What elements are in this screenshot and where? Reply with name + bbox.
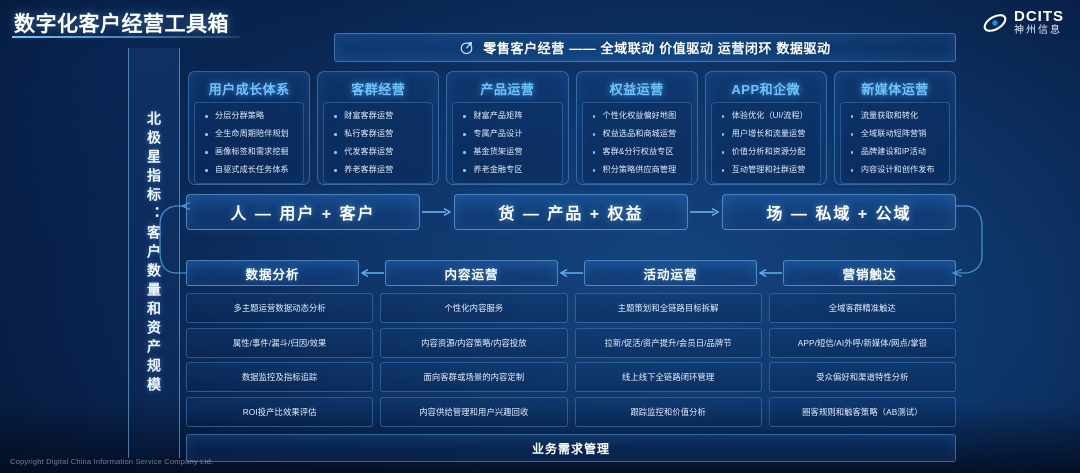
card-item-list: 流量获取和转化 全域联动短阵营销 品牌建设和IP活动 内容设计和创作发布: [847, 107, 945, 179]
operation-cell[interactable]: 属性/事件/漏斗/归因/效果: [186, 328, 373, 358]
card-list-item: 全域联动短阵营销: [847, 125, 945, 143]
card-title: 权益运营: [582, 79, 692, 98]
operation-cell[interactable]: 受众偏好和渠道特性分析: [769, 362, 956, 392]
core-flow-bar-label: 货 — 产品 + 权益: [498, 200, 643, 224]
business-requirement-bar[interactable]: 业务需求管理: [186, 434, 956, 462]
brand-name-cn: 神州信息: [1014, 26, 1064, 36]
card-list-item: 体验优化（UI/流程）: [718, 107, 816, 125]
card-item-list: 体验优化（UI/流程） 用户增长和流量运营 价值分析和资源分配 互动管理和社群运…: [718, 107, 816, 179]
operation-cell[interactable]: ROI投产比效果评估: [186, 397, 373, 427]
operation-cell[interactable]: 面向客群或场景的内容定制: [380, 362, 567, 392]
card-title: 产品运营: [452, 79, 562, 98]
operation-header-content[interactable]: 内容运营: [385, 260, 558, 286]
operation-header-label: 数据分析: [245, 264, 299, 283]
card-list-item: 全生命周期陪伴规划: [201, 125, 299, 143]
arrow-right-icon: [688, 206, 722, 218]
operation-cell-label: ROI投产比效果评估: [243, 406, 317, 418]
card-item-list: 财富客群运营 私行客群运营 代发客群运营 养老客群运营: [330, 107, 428, 179]
operation-cell-label: 面向客群或场景的内容定制: [423, 371, 524, 383]
core-flow-bar-field[interactable]: 场 — 私域 + 公域: [722, 194, 956, 230]
arrow-right-icon: [420, 206, 454, 218]
operation-header-label: 活动运营: [643, 264, 697, 283]
operation-header-activity[interactable]: 活动运营: [584, 260, 757, 286]
operation-cell[interactable]: 主题策划和全链路目标拆解: [575, 293, 762, 323]
card-body: 个性化权益偏好地图 权益选品和商城运营 客群&分行权益专区 积分策略供应商管理: [582, 102, 692, 184]
operation-column-marketing: 全域客群精准触达 APP/短信/AI外呼/新媒体/网点/掌银 受众偏好和渠道特性…: [769, 293, 956, 427]
north-star-axis-label: 北极星指标：客户数量和资产规模: [147, 111, 161, 396]
dcits-swirl-icon: [982, 10, 1008, 36]
card-title: 用户成长体系: [194, 79, 304, 98]
operation-cell[interactable]: 个性化内容服务: [380, 293, 567, 323]
card-list-item: 财富产品矩阵: [459, 107, 557, 125]
operation-cell[interactable]: 内容供给管理和用户兴趣回收: [380, 397, 567, 427]
target-arrow-icon: [459, 40, 474, 55]
page-title: 数字化客户经营工具箱: [14, 8, 229, 38]
operation-cell-label: 内容资源/内容策略/内容投放: [421, 337, 527, 349]
card-list-item: 养老客群运营: [330, 161, 428, 179]
arrow-left-icon: [359, 267, 385, 279]
card-body: 财富客群运营 私行客群运营 代发客群运营 养老客群运营: [323, 102, 433, 184]
card-body: 流量获取和转化 全域联动短阵营销 品牌建设和IP活动 内容设计和创作发布: [840, 102, 950, 184]
card-list-item: 私行客群运营: [330, 125, 428, 143]
core-flow-bar-people[interactable]: 人 — 用户 + 客户: [186, 194, 420, 230]
arrow-left-icon: [558, 267, 584, 279]
card-item-list: 分层分群策略 全生命周期陪伴规划 画像标签和需求挖掘 自驱式成长任务体系: [201, 107, 299, 179]
card-list-item: 用户增长和流量运营: [718, 125, 816, 143]
card-list-item: 互动管理和社群运营: [718, 161, 816, 179]
retail-banner-text: 零售客户经营 —— 全域联动 价值驱动 运营闭环 数据驱动: [483, 38, 830, 57]
card-list-item: 品牌建设和IP活动: [847, 143, 945, 161]
operation-cell[interactable]: 内容资源/内容策略/内容投放: [380, 328, 567, 358]
core-flow-bar-label: 场 — 私域 + 公域: [766, 200, 911, 224]
operation-cell-label: 个性化内容服务: [444, 302, 503, 314]
operation-cell[interactable]: 数据监控及指标追踪: [186, 362, 373, 392]
card-item-list: 财富产品矩阵 专属产品设计 基金货架运营 养老金融专区: [459, 107, 557, 179]
capability-card[interactable]: 产品运营 财富产品矩阵 专属产品设计 基金货架运营 养老金融专区: [446, 71, 568, 185]
operation-cell-label: 多主题运营数据动态分析: [233, 302, 325, 314]
operation-cell-label: 主题策划和全链路目标拆解: [618, 302, 719, 314]
card-list-item: 专属产品设计: [459, 125, 557, 143]
operation-cell-label: 圈客规则和触客策略（AB测试）: [802, 406, 922, 418]
card-list-item: 个性化权益偏好地图: [589, 107, 687, 125]
card-list-item: 价值分析和资源分配: [718, 143, 816, 161]
copyright-notice: Copyright Digital China Information Serv…: [10, 457, 213, 466]
card-list-item: 基金货架运营: [459, 143, 557, 161]
card-body: 分层分群策略 全生命周期陪伴规划 画像标签和需求挖掘 自驱式成长任务体系: [194, 102, 304, 184]
card-list-item: 积分策略供应商管理: [589, 161, 687, 179]
title-underline: [12, 36, 240, 38]
operation-detail-grid: 多主题运营数据动态分析 属性/事件/漏斗/归因/效果 数据监控及指标追踪 ROI…: [186, 293, 956, 427]
operation-header-marketing[interactable]: 营销触达: [783, 260, 956, 286]
operation-column-content: 个性化内容服务 内容资源/内容策略/内容投放 面向客群或场景的内容定制 内容供给…: [380, 293, 567, 427]
operation-cell[interactable]: 线上线下全链路闭环管理: [575, 362, 762, 392]
operation-cell[interactable]: 圈客规则和触客策略（AB测试）: [769, 397, 956, 427]
capability-card[interactable]: 用户成长体系 分层分群策略 全生命周期陪伴规划 画像标签和需求挖掘 自驱式成长任…: [188, 71, 310, 185]
operation-column-activity: 主题策划和全链路目标拆解 拉新/促活/资产提升/会员日/品牌节 线上线下全链路闭…: [575, 293, 762, 427]
operation-column-data-analysis: 多主题运营数据动态分析 属性/事件/漏斗/归因/效果 数据监控及指标追踪 ROI…: [186, 293, 373, 427]
card-body: 体验优化（UI/流程） 用户增长和流量运营 价值分析和资源分配 互动管理和社群运…: [711, 102, 821, 184]
card-list-item: 自驱式成长任务体系: [201, 161, 299, 179]
card-title: APP和企微: [711, 79, 821, 98]
operation-cell-label: 跟踪监控和价值分析: [630, 406, 706, 418]
card-list-item: 分层分群策略: [201, 107, 299, 125]
card-body: 财富产品矩阵 专属产品设计 基金货架运营 养老金融专区: [452, 102, 562, 184]
card-list-item: 画像标签和需求挖掘: [201, 143, 299, 161]
operation-cell[interactable]: 跟踪监控和价值分析: [575, 397, 762, 427]
operation-header-row: 数据分析 内容运营 活动运营 营销触达: [186, 260, 956, 286]
capability-card[interactable]: 新媒体运营 流量获取和转化 全域联动短阵营销 品牌建设和IP活动 内容设计和创作…: [834, 71, 956, 185]
operation-cell[interactable]: 多主题运营数据动态分析: [186, 293, 373, 323]
operation-header-data-analysis[interactable]: 数据分析: [186, 260, 359, 286]
brand-name-en: DCITS: [1014, 9, 1064, 24]
card-list-item: 流量获取和转化: [847, 107, 945, 125]
card-title: 新媒体运营: [840, 79, 950, 98]
operation-cell-label: 线上线下全链路闭环管理: [622, 371, 714, 383]
card-list-item: 财富客群运营: [330, 107, 428, 125]
card-list-item: 权益选品和商城运营: [589, 125, 687, 143]
operation-cell-label: 属性/事件/漏斗/归因/效果: [233, 337, 327, 349]
card-list-item: 客群&分行权益专区: [589, 143, 687, 161]
card-list-item: 代发客群运营: [330, 143, 428, 161]
brand-logo: DCITS 神州信息: [982, 9, 1064, 36]
operation-cell[interactable]: 拉新/促活/资产提升/会员日/品牌节: [575, 328, 762, 358]
operation-cell[interactable]: 全域客群精准触达: [769, 293, 956, 323]
operation-header-label: 内容运营: [444, 264, 498, 283]
capability-card[interactable]: 客群经营 财富客群运营 私行客群运营 代发客群运营 养老客群运营: [317, 71, 439, 185]
core-flow-bar-goods[interactable]: 货 — 产品 + 权益: [454, 194, 688, 230]
card-list-item: 内容设计和创作发布: [847, 161, 945, 179]
retail-banner: 零售客户经营 —— 全域联动 价值驱动 运营闭环 数据驱动: [334, 33, 956, 62]
core-flow-bar-label: 人 — 用户 + 客户: [230, 200, 375, 224]
north-star-axis: 北极星指标：客户数量和资产规模: [128, 48, 180, 458]
operation-header-label: 营销触达: [842, 264, 896, 283]
core-flow-row: 人 — 用户 + 客户 货 — 产品 + 权益 场 — 私域 + 公域: [186, 194, 956, 230]
capability-card[interactable]: APP和企微 体验优化（UI/流程） 用户增长和流量运营 价值分析和资源分配 互…: [705, 71, 827, 185]
card-list-item: 养老金融专区: [459, 161, 557, 179]
capability-card[interactable]: 权益运营 个性化权益偏好地图 权益选品和商城运营 客群&分行权益专区 积分策略供…: [576, 71, 698, 185]
operation-cell[interactable]: APP/短信/AI外呼/新媒体/网点/掌银: [769, 328, 956, 358]
operation-cell-label: 数据监控及指标追踪: [242, 371, 318, 383]
operation-cell-label: 内容供给管理和用户兴趣回收: [419, 406, 528, 418]
capability-cards-row: 用户成长体系 分层分群策略 全生命周期陪伴规划 画像标签和需求挖掘 自驱式成长任…: [188, 71, 956, 185]
card-title: 客群经营: [323, 79, 433, 98]
operation-cell-label: 拉新/促活/资产提升/会员日/品牌节: [605, 337, 732, 349]
operation-cell-label: APP/短信/AI外呼/新媒体/网点/掌银: [798, 337, 927, 349]
card-item-list: 个性化权益偏好地图 权益选品和商城运营 客群&分行权益专区 积分策略供应商管理: [589, 107, 687, 179]
operation-cell-label: 受众偏好和渠道特性分析: [816, 371, 908, 383]
arrow-left-icon: [757, 267, 783, 279]
business-requirement-label: 业务需求管理: [532, 440, 610, 457]
operation-cell-label: 全域客群精准触达: [829, 302, 896, 314]
